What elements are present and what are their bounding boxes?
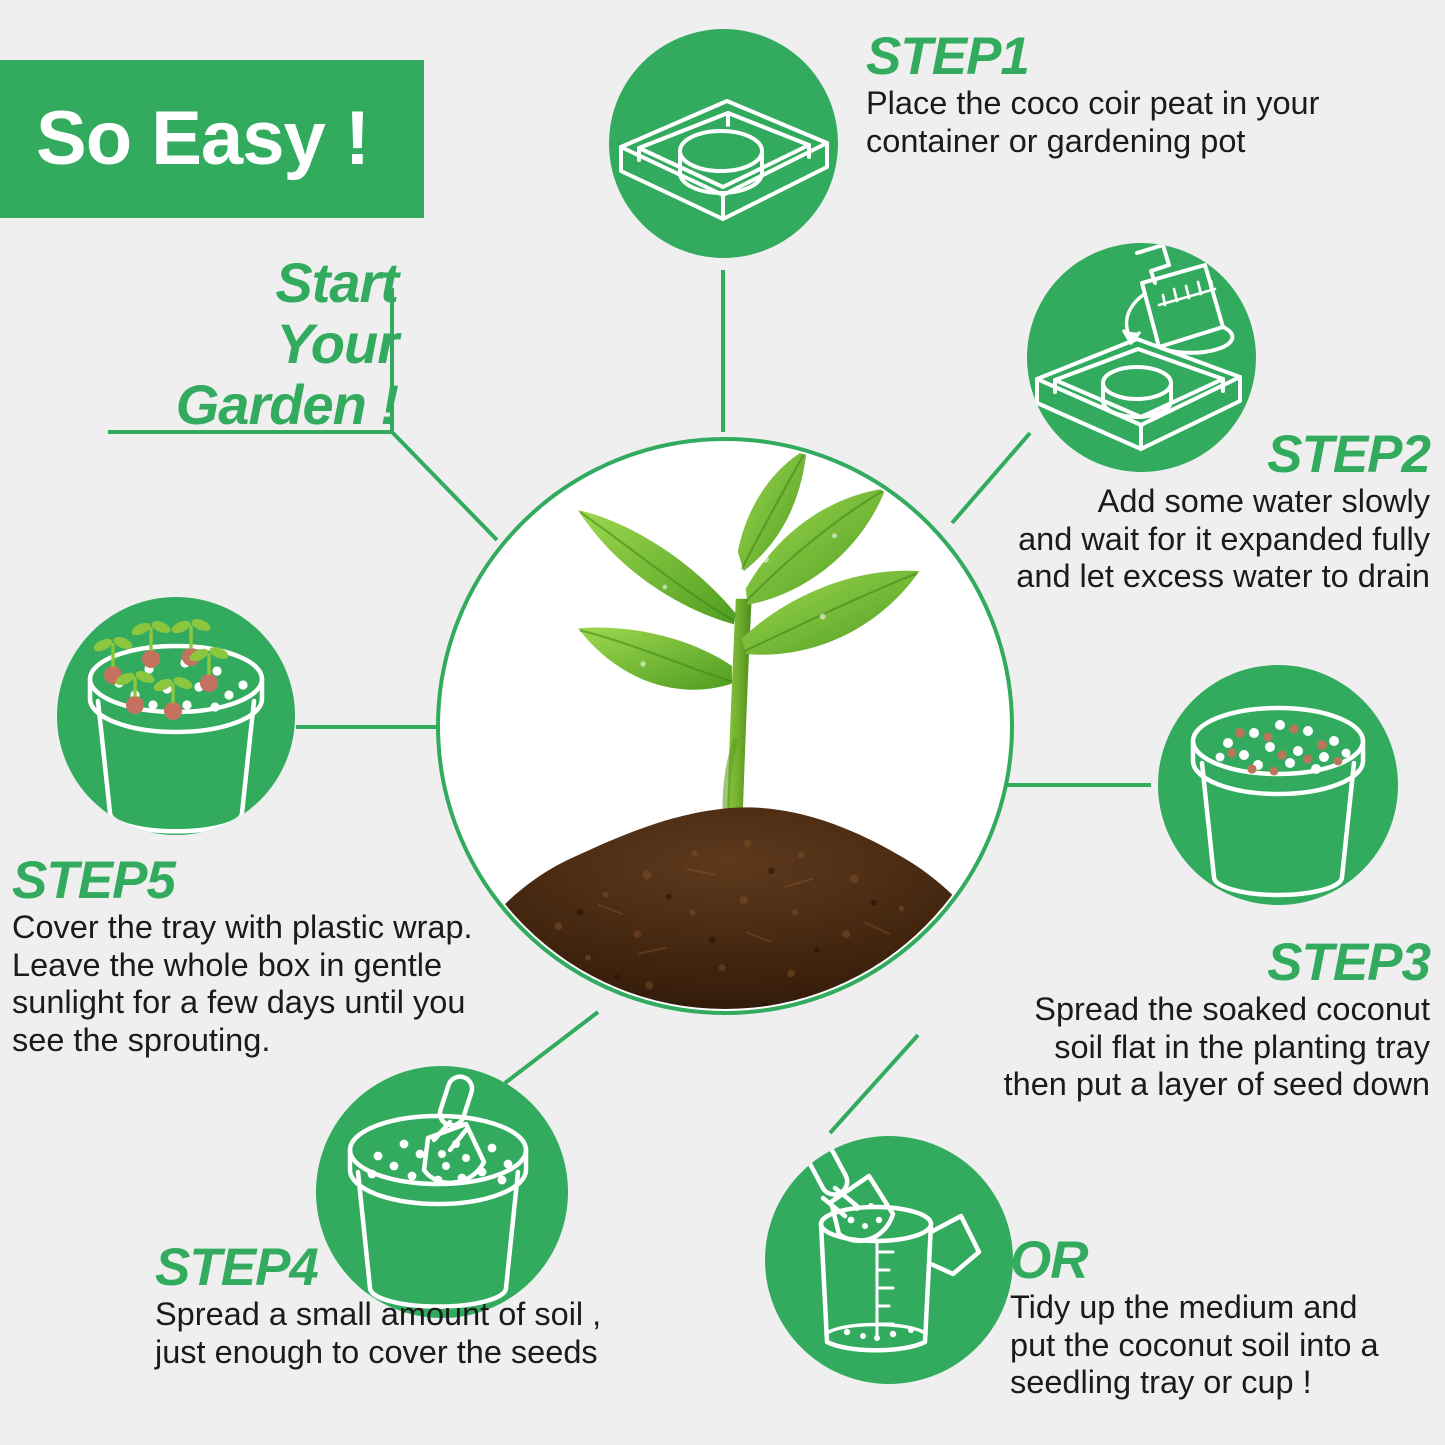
step3-icon-circle <box>1158 665 1398 905</box>
tray-with-coir-disc-icon <box>609 29 838 258</box>
pot-with-sprouting-seedlings-icon <box>57 597 295 835</box>
sprout-group <box>92 617 230 720</box>
step4-icon-circle <box>316 1066 568 1318</box>
pot-with-trowel-covering-seeds-icon <box>316 1066 568 1318</box>
seedling-in-soil-photo <box>440 441 1010 1011</box>
measuring-jug-pouring-water-into-tray-icon <box>1027 243 1256 472</box>
step5-icon-circle <box>57 597 295 835</box>
connector-slogan-bracket <box>108 288 392 432</box>
connector-or <box>830 1035 918 1133</box>
center-hub-circle <box>436 437 1014 1015</box>
step1-icon-circle <box>609 29 838 258</box>
trowel-pouring-soil-into-measuring-cup-icon <box>765 1136 1013 1384</box>
infographic-canvas: So Easy ! Start Your Garden ! STEP1 Plac… <box>0 0 1445 1445</box>
or-icon-circle <box>765 1136 1013 1384</box>
pot-with-seeds-icon <box>1158 665 1398 905</box>
step2-icon-circle <box>1027 243 1256 472</box>
